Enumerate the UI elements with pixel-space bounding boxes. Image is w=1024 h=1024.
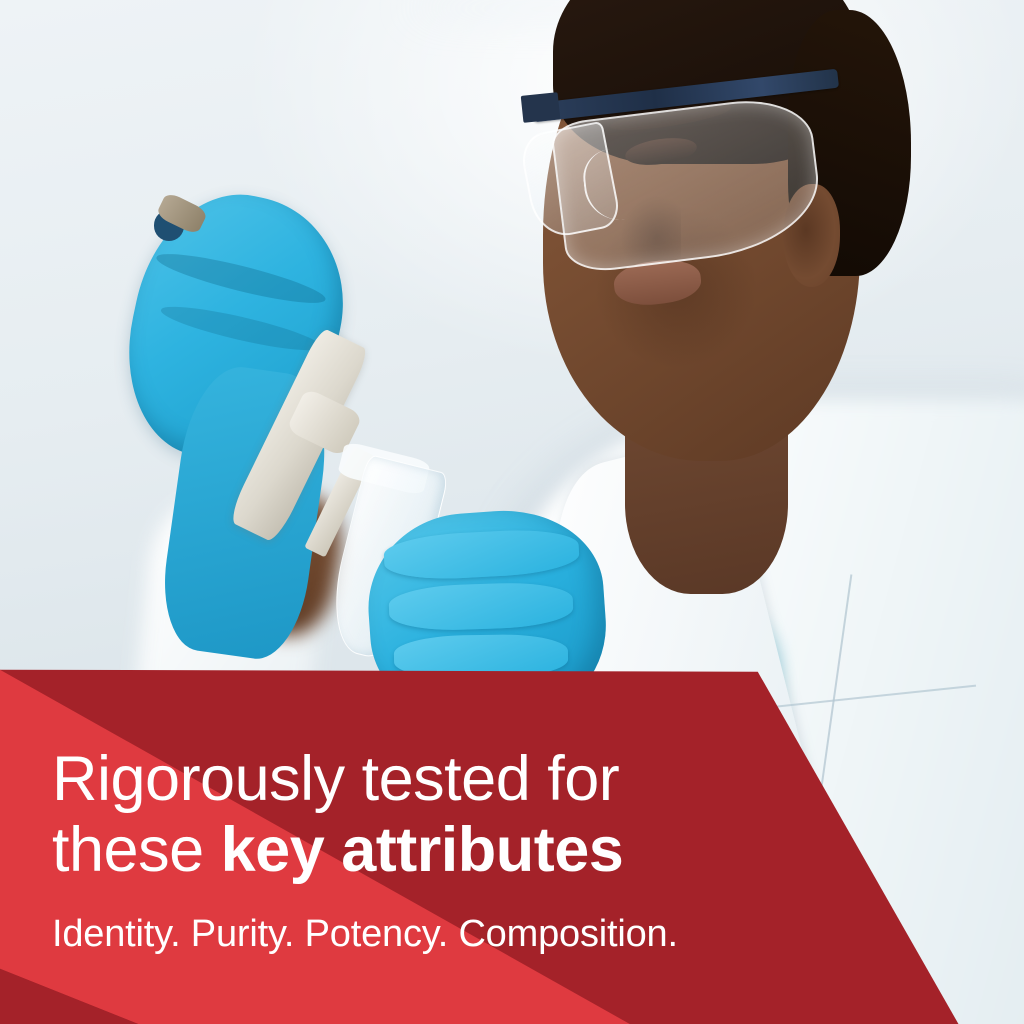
banner-copy: Rigorously tested for these key attribut…	[52, 744, 832, 956]
headline-line-2-light: these	[52, 815, 221, 885]
subline: Identity. Purity. Potency. Composition.	[52, 914, 832, 956]
safety-goggles-hinge	[521, 92, 560, 122]
headline-line-2-bold: key attributes	[221, 815, 624, 885]
headline: Rigorously tested for these key attribut…	[52, 744, 832, 886]
headline-line-1: Rigorously tested for	[52, 744, 619, 814]
promo-image: Rigorously tested for these key attribut…	[0, 0, 1024, 1024]
